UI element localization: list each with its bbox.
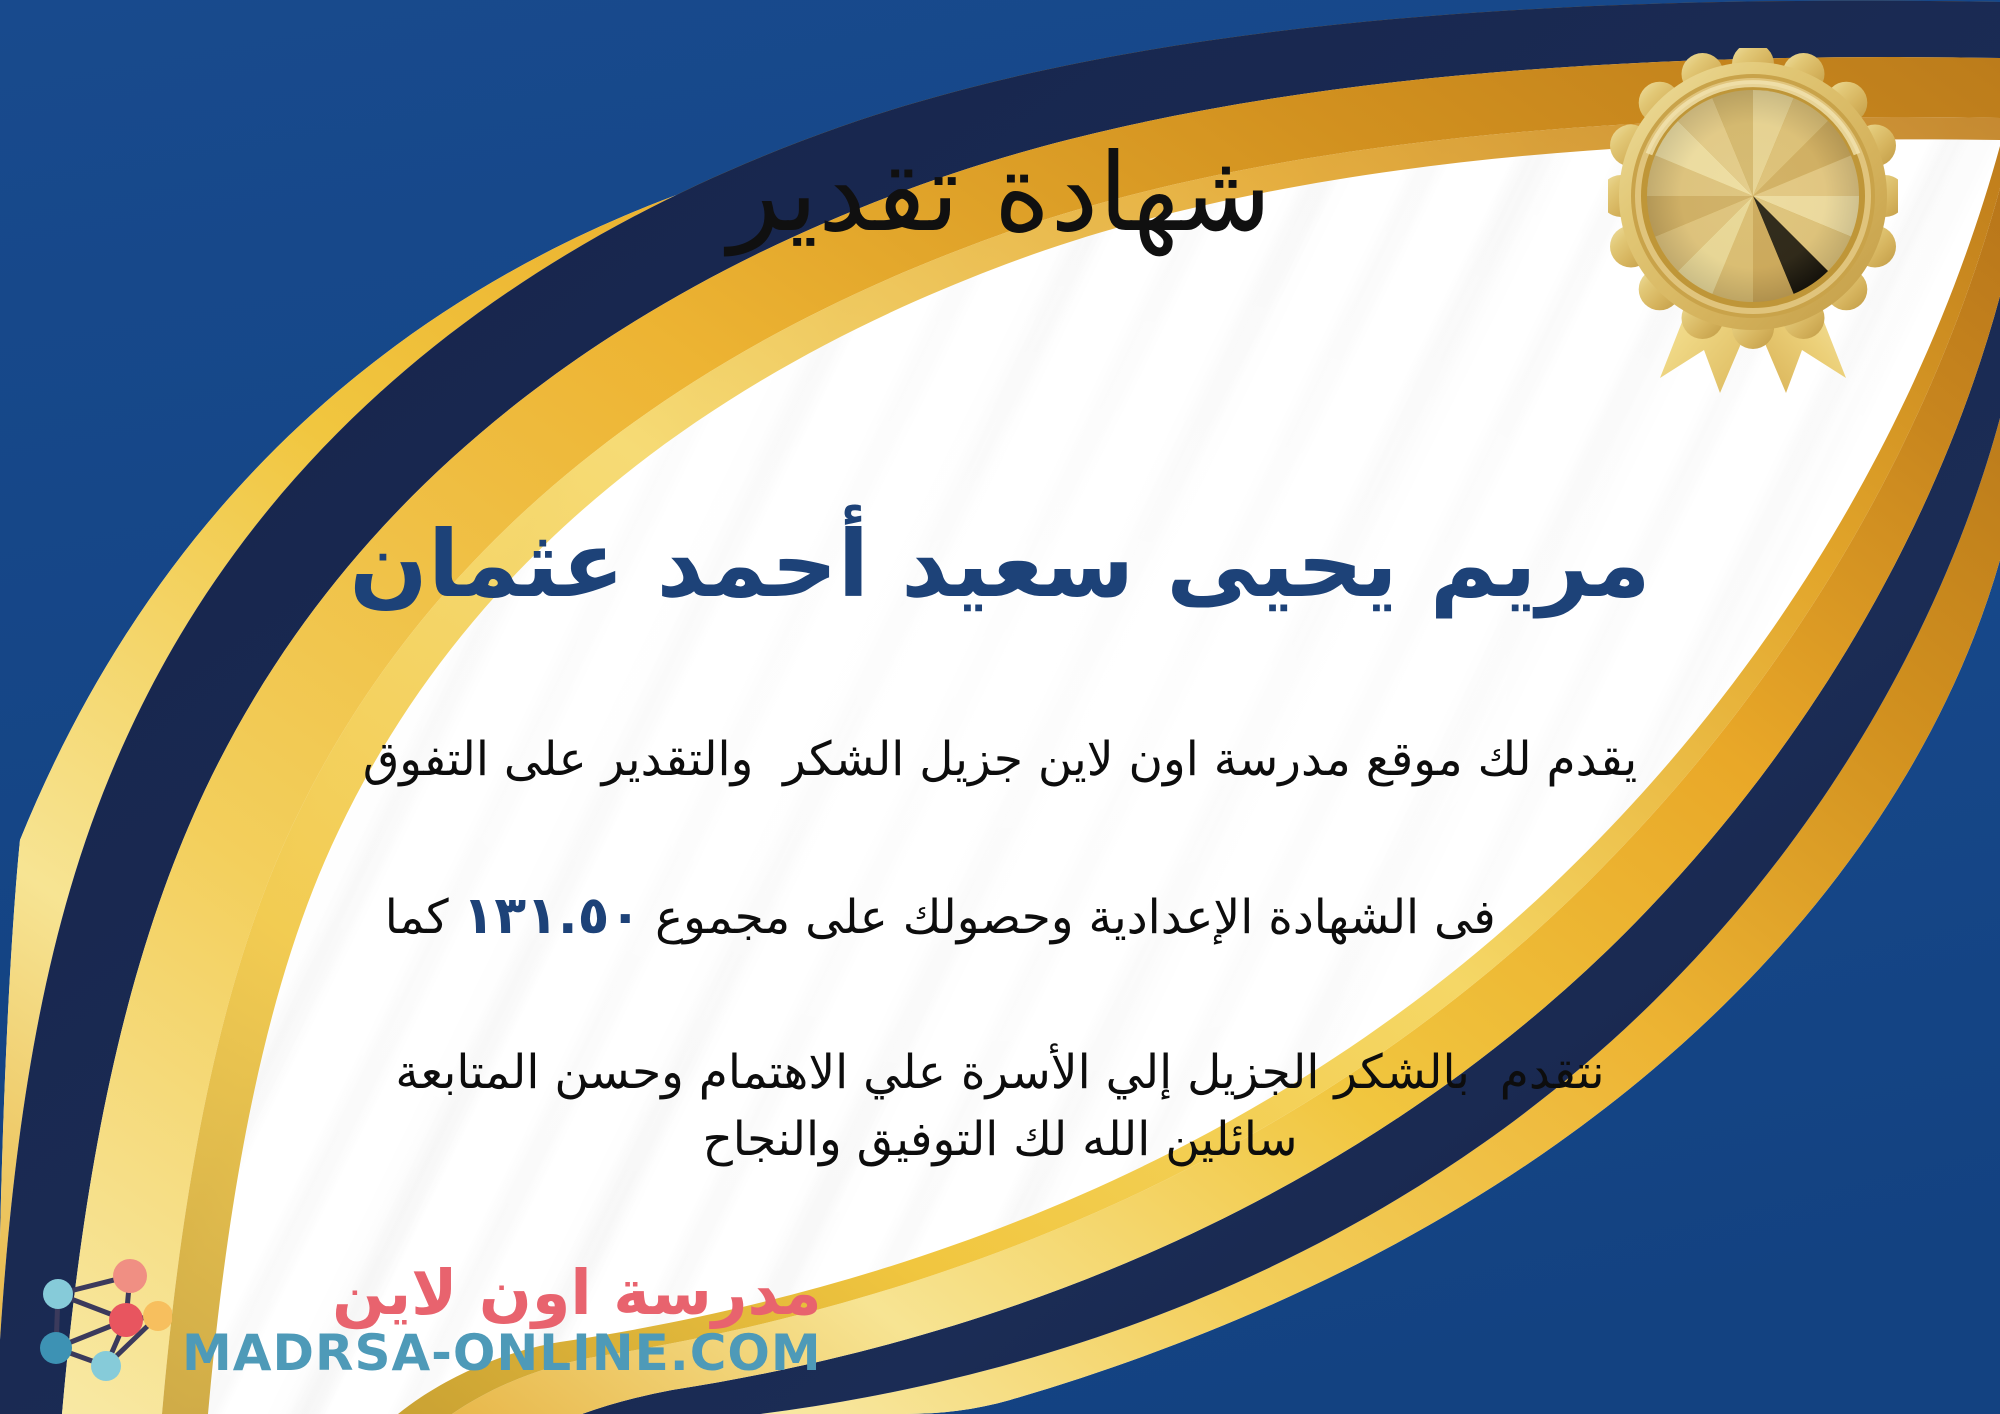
closing-line: سائلين الله لك التوفيق والنجاح <box>0 1105 2000 1176</box>
recipient-name: مريم يحيى سعيد أحمد عثمان <box>0 510 2000 620</box>
certificate-content: شهادة تقدير مريم يحيى سعيد أحمد عثمان يق… <box>0 0 2000 1414</box>
certificate-title: شهادة تقدير <box>0 132 2000 256</box>
site-logo[interactable]: مدرسة اون لاين MADRSA-ONLINE.COM <box>22 1248 822 1392</box>
body-line-3: نتقدم بالشكر الجزيل إلي الأسرة علي الاهت… <box>60 1035 1940 1111</box>
body-line-2-prefix: فى الشهادة الإعدادية وحصولك على مجموع <box>655 890 1496 945</box>
body-line-2-suffix: كما <box>385 890 449 945</box>
score-value: ١٣١.٥٠ <box>449 886 655 946</box>
logo-website: MADRSA-ONLINE.COM <box>182 1328 822 1378</box>
body-line-1: يقدم لك موقع مدرسة اون لاين جزيل الشكر و… <box>60 722 1940 798</box>
certificate-page: شهادة تقدير مريم يحيى سعيد أحمد عثمان يق… <box>0 0 2000 1414</box>
network-nodes-icon <box>22 1248 172 1392</box>
logo-text-block: مدرسة اون لاين MADRSA-ONLINE.COM <box>182 1262 822 1378</box>
logo-arabic-name: مدرسة اون لاين <box>332 1262 822 1324</box>
body-line-2: فى الشهادة الإعدادية وحصولك على مجموع١٣١… <box>60 798 1940 1034</box>
certificate-body: يقدم لك موقع مدرسة اون لاين جزيل الشكر و… <box>60 722 1940 1111</box>
